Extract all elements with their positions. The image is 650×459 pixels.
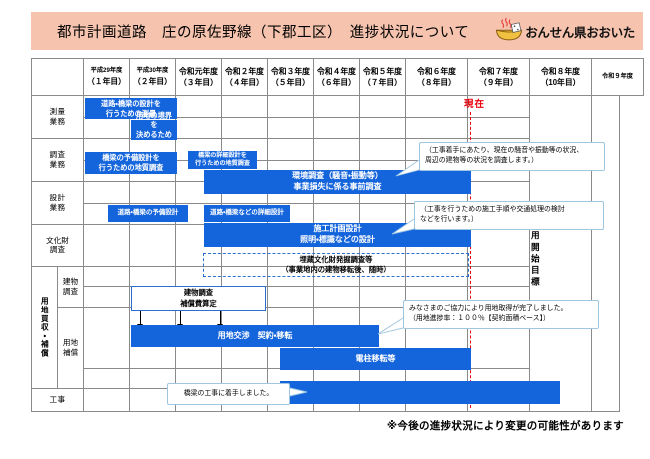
onsen-bowl-icon	[494, 17, 524, 45]
col-header-1: 平成30年度 （２年目）	[130, 59, 176, 96]
col-fiscal-2: 令和元年度	[176, 66, 221, 77]
col-header-4: 令和３年度 （５年目）	[268, 59, 314, 96]
col-fiscal-9: 令和８年度	[530, 66, 591, 77]
col-header-2: 令和元年度 （３年目）	[176, 59, 222, 96]
row-label-kouji: 工事	[32, 389, 84, 412]
col-fiscal-4: 令和３年度	[268, 66, 313, 77]
col-ordinal-0: （１年目）	[84, 76, 129, 87]
header-corner	[32, 59, 84, 96]
col-fiscal-3: 令和２年度	[222, 66, 267, 77]
goal-column: 供用開始目標	[530, 96, 592, 412]
col-fiscal-7: 令和６年度	[406, 66, 467, 77]
col-ordinal-3: （４年目）	[222, 77, 267, 88]
row-group-label-youchi: 用地買収・補償	[32, 266, 58, 389]
col-header-9: 令和８年度 （10年目）	[530, 59, 592, 96]
col-fiscal-0: 平成29年度	[84, 67, 129, 76]
row-label-tatemono: 建物調査	[58, 266, 84, 308]
row-label-bunkazai: 文化財調査	[32, 225, 84, 267]
col-ordinal-5: （６年目）	[314, 77, 359, 88]
table-row-sokuryo-a: 測量業務 供用開始目標	[32, 96, 644, 118]
col-header-3: 令和２年度 （４年目）	[222, 59, 268, 96]
col-ordinal-7: （８年目）	[406, 77, 467, 88]
schedule-page: 都市計画道路 庄の原佐野線（下郡工区） 進捗状況について おんせん県おおいた	[0, 0, 650, 459]
footnote: ※今後の進捗状況により変更の可能性があります	[387, 418, 624, 433]
row-label-youchi: 用地補償	[58, 308, 84, 389]
col-fiscal-1: 平成30年度	[130, 67, 175, 76]
col-ordinal-8: （９年目）	[468, 77, 529, 88]
row-label-sekkei: 設計業務	[32, 182, 84, 225]
col-ordinal-9: （10年目）	[530, 77, 591, 88]
goal-column-label: 供用開始目標	[530, 219, 540, 289]
spacer-column	[592, 96, 620, 412]
col-header-5: 令和４年度 （６年目）	[314, 59, 360, 96]
row-group-label-youchi-text: 用地買収・補償	[41, 297, 49, 357]
col-fiscal-8: 令和７年度	[468, 66, 529, 77]
col-ordinal-1: （２年目）	[130, 76, 175, 87]
col-fiscal-6: 令和５年度	[360, 66, 405, 77]
col-header-7: 令和６年度 （８年目）	[406, 59, 468, 96]
col-header-8: 令和７年度 （９年目）	[468, 59, 530, 96]
prefecture-brand: おんせん県おおいた	[494, 15, 635, 47]
col-ordinal-2: （３年目）	[176, 77, 221, 88]
row-label-sokuryo: 測量業務	[32, 96, 84, 139]
col-header-10: 令和９年度	[592, 59, 644, 96]
schedule-table: 平成29年度 （１年目） 平成30年度 （２年目） 令和元年度 （３年目） 令和…	[31, 58, 644, 412]
col-header-0: 平成29年度 （１年目）	[84, 59, 130, 96]
col-fiscal-5: 令和４年度	[314, 66, 359, 77]
col-header-6: 令和５年度 （７年目）	[360, 59, 406, 96]
row-label-chosa: 調査業務	[32, 139, 84, 182]
col-fiscal-10: 令和９年度	[592, 73, 643, 82]
page-title: 都市計画道路 庄の原佐野線（下郡工区） 進捗状況について	[57, 21, 469, 42]
col-ordinal-4: （５年目）	[268, 77, 313, 88]
col-ordinal-6: （７年目）	[360, 77, 405, 88]
page-banner: 都市計画道路 庄の原佐野線（下郡工区） 進捗状況について おんせん県おおいた	[31, 12, 643, 50]
brand-label: おんせん県おおいた	[525, 22, 635, 41]
table-header-row: 平成29年度 （１年目） 平成30年度 （２年目） 令和元年度 （３年目） 令和…	[32, 59, 644, 96]
